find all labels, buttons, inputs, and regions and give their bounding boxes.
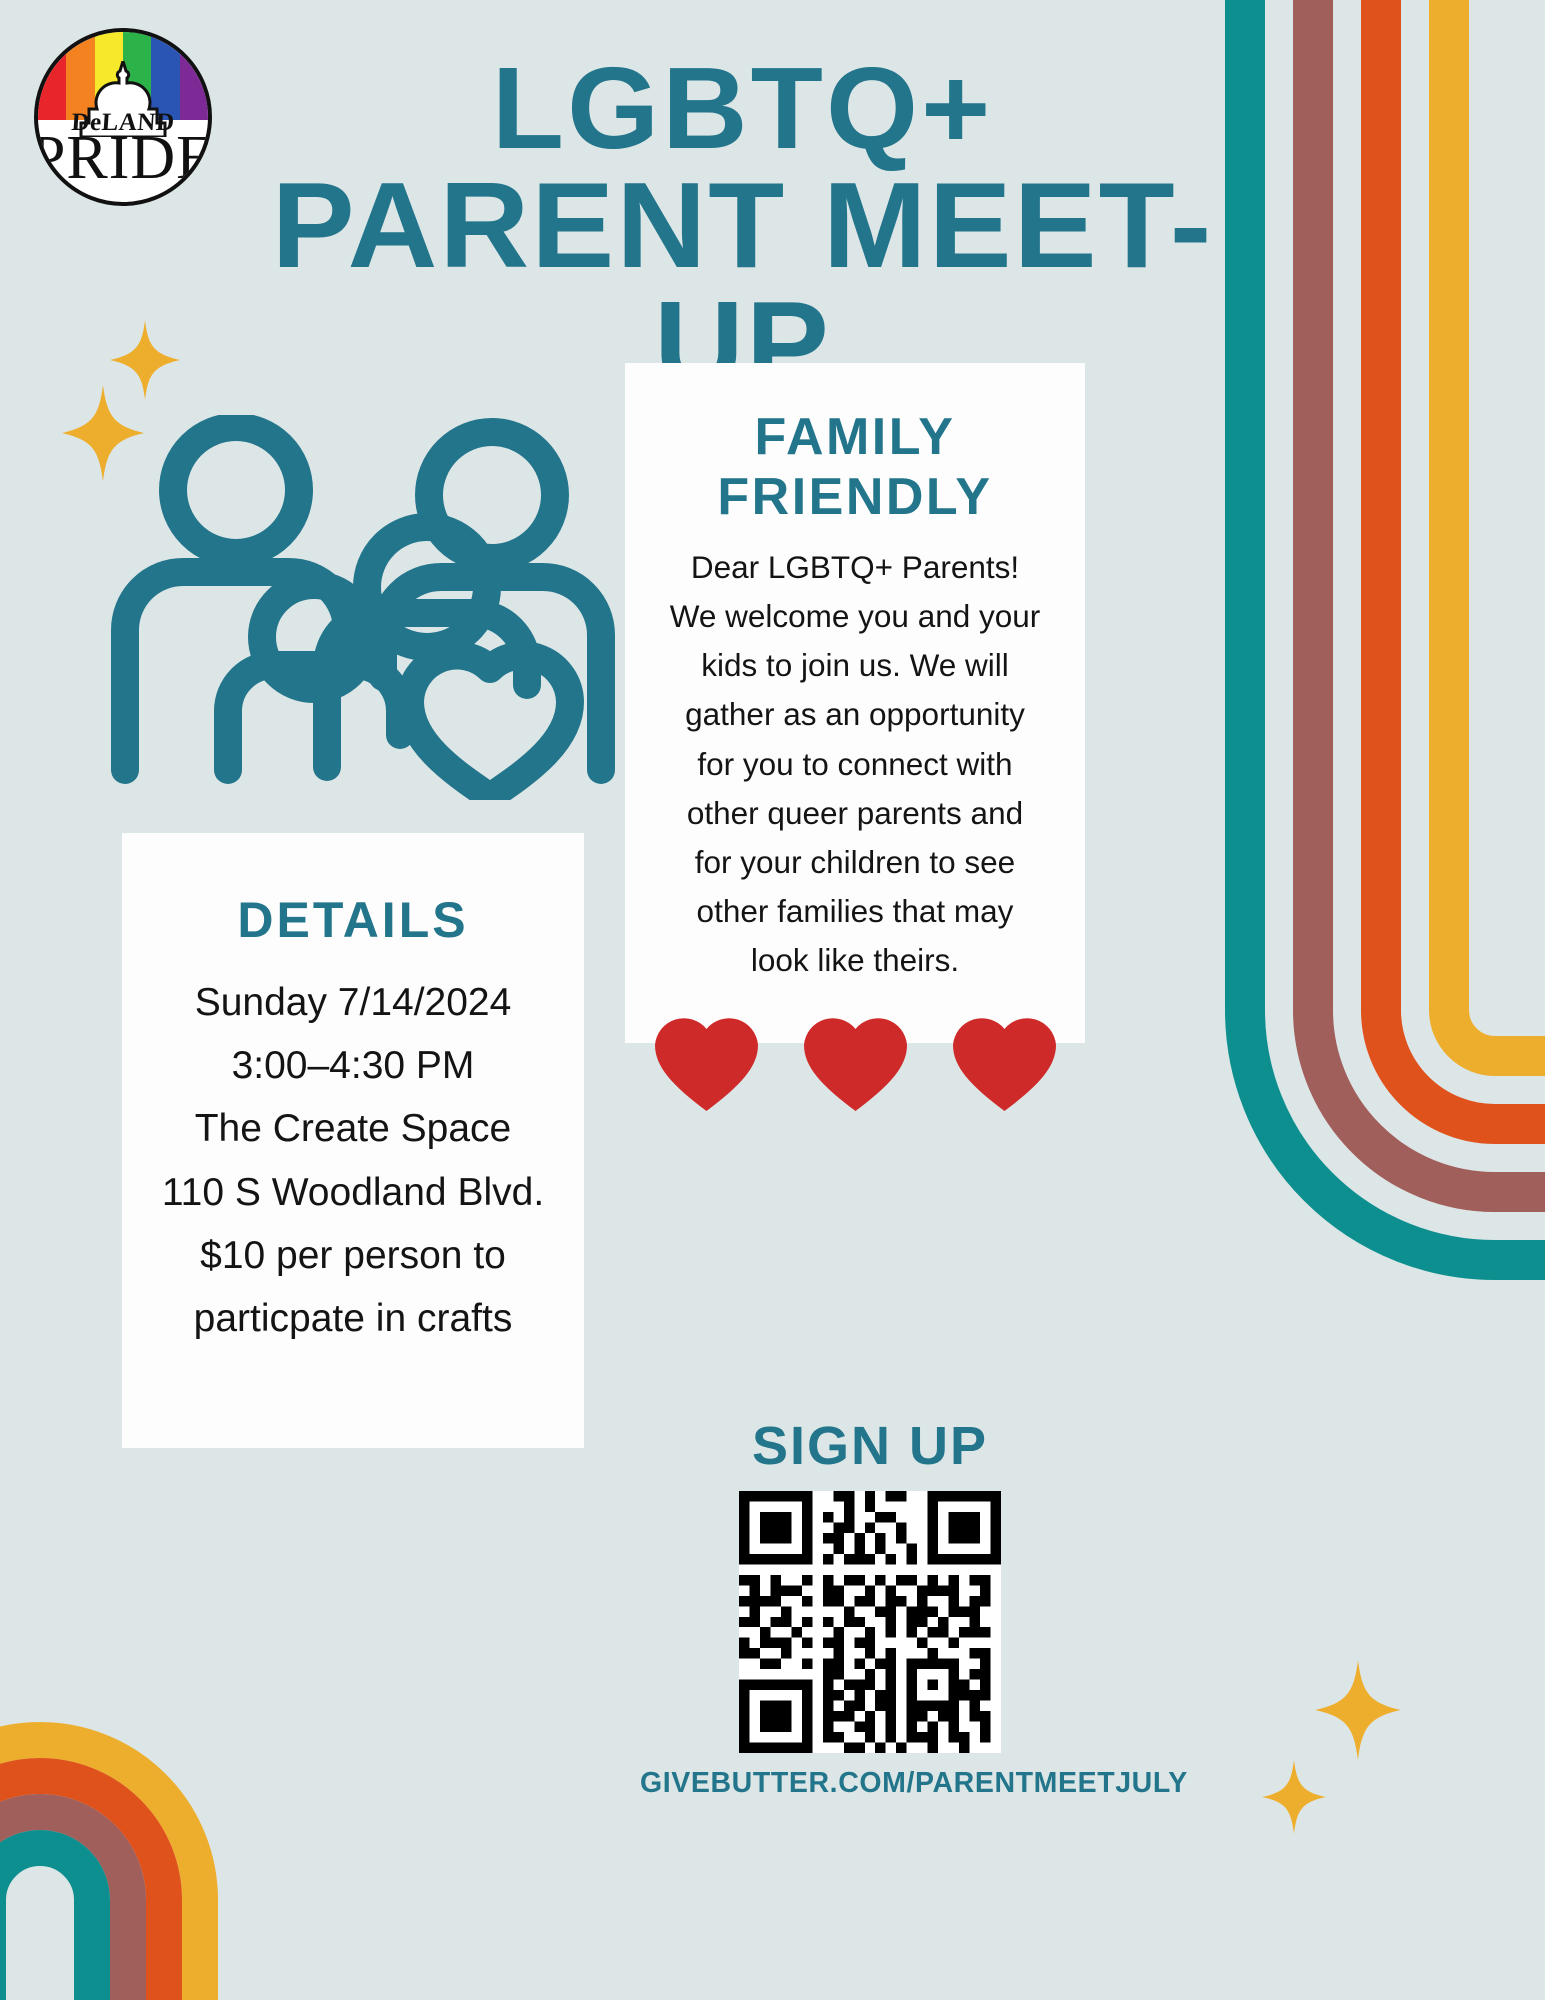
body-line: other families that may bbox=[645, 887, 1065, 936]
heart-icon bbox=[804, 1015, 907, 1111]
details-body: Sunday 7/14/2024 3:00–4:30 PM The Create… bbox=[122, 971, 584, 1350]
detail-line: 3:00–4:30 PM bbox=[132, 1034, 574, 1097]
title-line-1: LGBTQ+ bbox=[215, 52, 1271, 166]
qr-code[interactable] bbox=[739, 1491, 1001, 1753]
sparkle-star-icon bbox=[1262, 1760, 1326, 1834]
heart-icon bbox=[655, 1015, 758, 1111]
detail-line: Sunday 7/14/2024 bbox=[132, 971, 574, 1034]
poster-canvas: DeLAND PRIDE LGBTQ+ PARENT MEET-UP bbox=[0, 0, 1545, 2000]
body-line: gather as an opportunity bbox=[645, 690, 1065, 739]
signup-heading: SIGN UP bbox=[640, 1415, 1100, 1477]
logo-pride-text: PRIDE bbox=[34, 127, 212, 189]
signup-url[interactable]: GIVEBUTTER.COM/PARENTMEETJULY bbox=[640, 1767, 1100, 1800]
body-line: kids to join us. We will bbox=[645, 641, 1065, 690]
detail-line: $10 per person to bbox=[132, 1224, 574, 1287]
page-title: LGBTQ+ PARENT MEET-UP bbox=[215, 52, 1271, 405]
family-group-icon bbox=[105, 415, 615, 800]
rainbow-arc-decoration bbox=[0, 1600, 270, 2000]
signup-section: SIGN UP bbox=[640, 1415, 1100, 1800]
heart-icon bbox=[953, 1015, 1056, 1111]
body-line: for your children to see bbox=[645, 838, 1065, 887]
detail-line: 110 S Woodland Blvd. bbox=[132, 1161, 574, 1224]
deland-pride-logo: DeLAND PRIDE bbox=[34, 28, 212, 206]
hearts-row bbox=[625, 1015, 1085, 1111]
body-line: for you to connect with bbox=[645, 740, 1065, 789]
family-friendly-card: FAMILY FRIENDLY Dear LGBTQ+ Parents! We … bbox=[625, 363, 1085, 1043]
body-line: We welcome you and your bbox=[645, 592, 1065, 641]
sparkle-star-icon bbox=[1315, 1660, 1401, 1760]
family-friendly-body: Dear LGBTQ+ Parents! We welcome you and … bbox=[625, 543, 1085, 985]
detail-line: The Create Space bbox=[132, 1097, 574, 1160]
body-line: other queer parents and bbox=[645, 789, 1065, 838]
details-card: DETAILS Sunday 7/14/2024 3:00–4:30 PM Th… bbox=[122, 833, 584, 1448]
details-heading: DETAILS bbox=[122, 891, 584, 949]
body-line: look like theirs. bbox=[645, 936, 1065, 985]
family-friendly-heading: FAMILY FRIENDLY bbox=[625, 407, 1085, 527]
body-line: Dear LGBTQ+ Parents! bbox=[645, 543, 1065, 592]
detail-line: particpate in crafts bbox=[132, 1287, 574, 1350]
